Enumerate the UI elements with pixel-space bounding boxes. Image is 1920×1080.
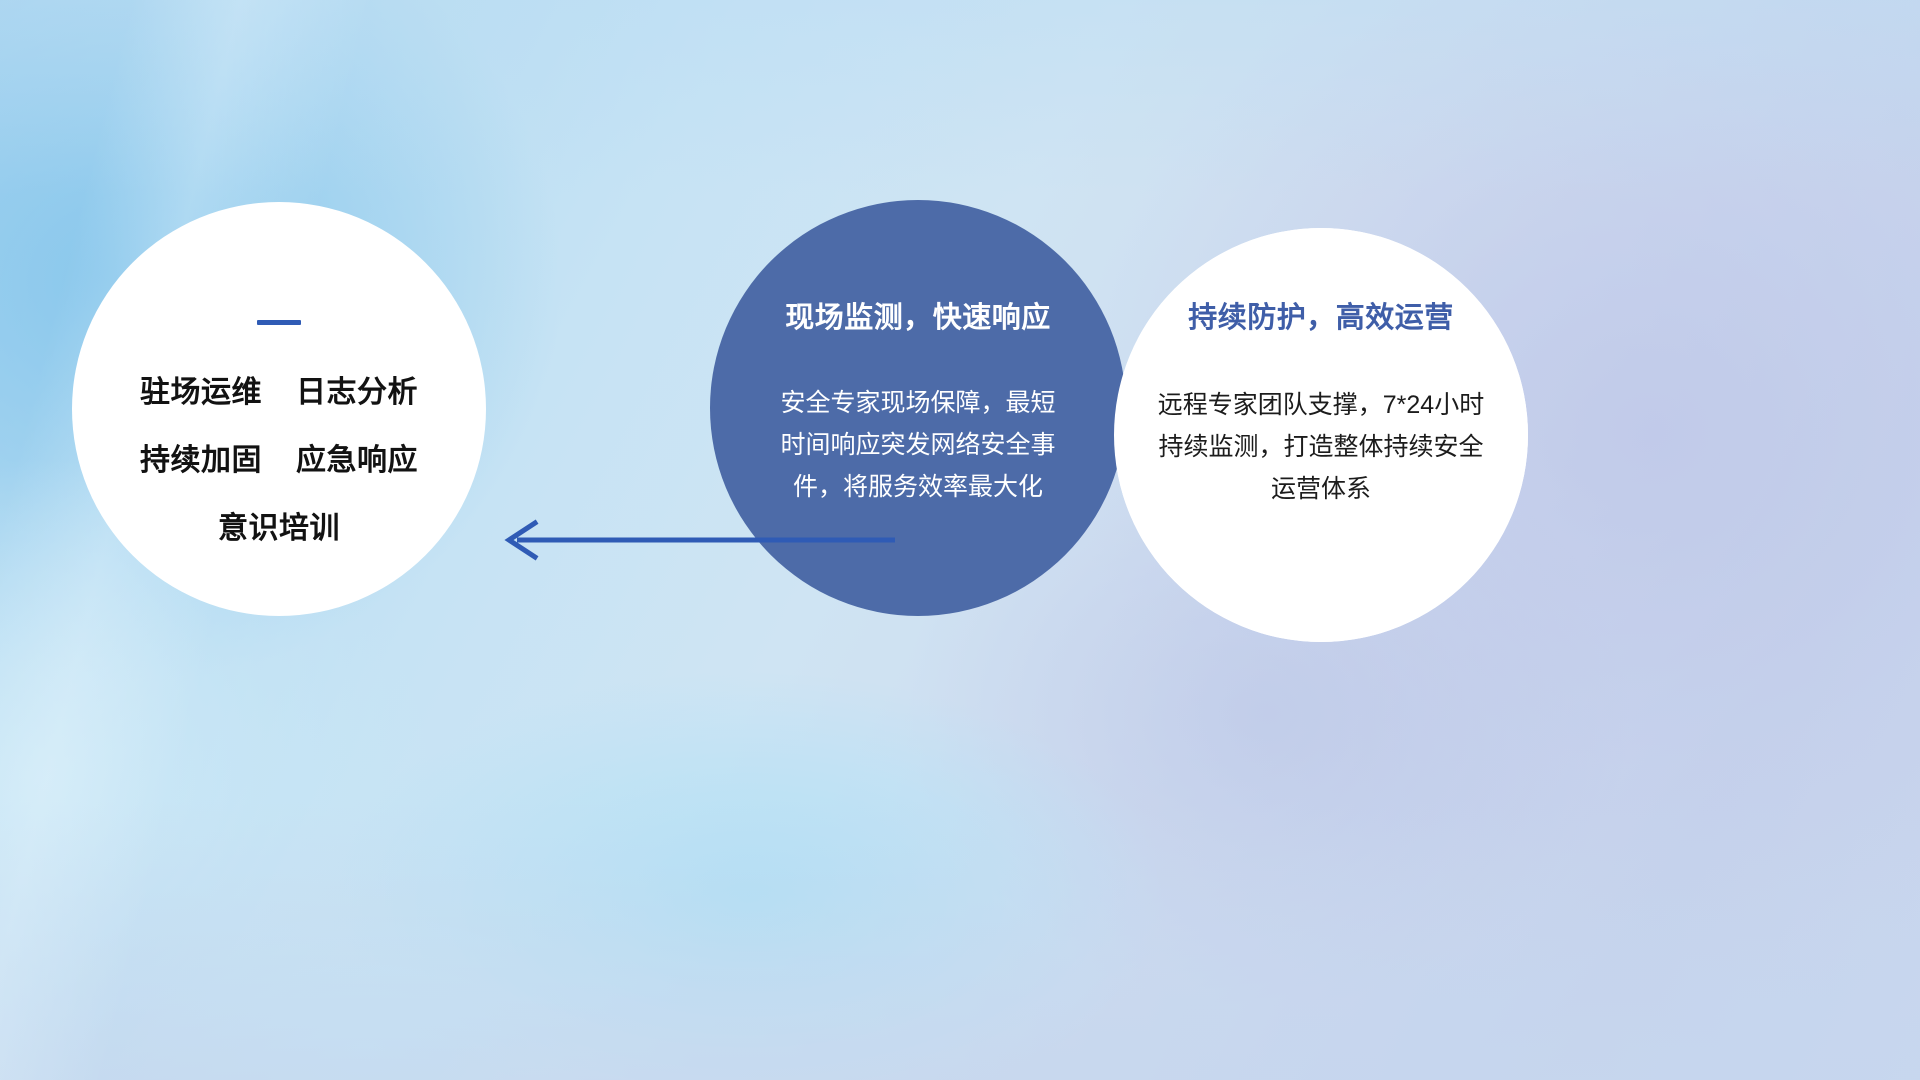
capability-row: 意识培训 [218,503,340,547]
capability-item[interactable]: 驻场运维 [140,367,262,411]
left-circle-capabilities[interactable]: 驻场运维 日志分析 持续加固 应急响应 意识培训 [72,202,486,616]
slide-canvas: 驻场运维 日志分析 持续加固 应急响应 意识培训 现场监测，快速响应 [0,0,1920,1080]
right-circle-continuous-protection[interactable]: 持续防护，高效运营 远程专家团队支撑，7*24小时持续监测，打造整体持续安全运营… [1114,228,1528,642]
arrow-left-icon [495,512,895,568]
capability-row: 持续加固 应急响应 [140,435,418,479]
right-circle-title: 持续防护，高效运营 [1188,294,1454,336]
right-circle-body: 远程专家团队支撑，7*24小时持续监测，打造整体持续安全运营体系 [1147,384,1495,510]
capability-item[interactable]: 持续加固 [140,435,262,479]
middle-circle-body: 安全专家现场保障，最短时间响应突发网络安全事件，将服务效率最大化 [771,382,1065,508]
right-circle-content: 持续防护，高效运营 远程专家团队支撑，7*24小时持续监测，打造整体持续安全运营… [1114,228,1528,642]
capability-list: 驻场运维 日志分析 持续加固 应急响应 意识培训 [140,367,418,547]
arrow-left-svg [495,512,895,568]
capability-item[interactable]: 日志分析 [296,367,418,411]
left-circle-content: 驻场运维 日志分析 持续加固 应急响应 意识培训 [72,202,486,616]
capability-item[interactable]: 意识培训 [218,503,340,547]
capability-item[interactable]: 应急响应 [296,435,418,479]
divider-dash-icon [257,320,301,325]
capability-row: 驻场运维 日志分析 [140,367,418,411]
middle-circle-title: 现场监测，快速响应 [785,294,1051,336]
